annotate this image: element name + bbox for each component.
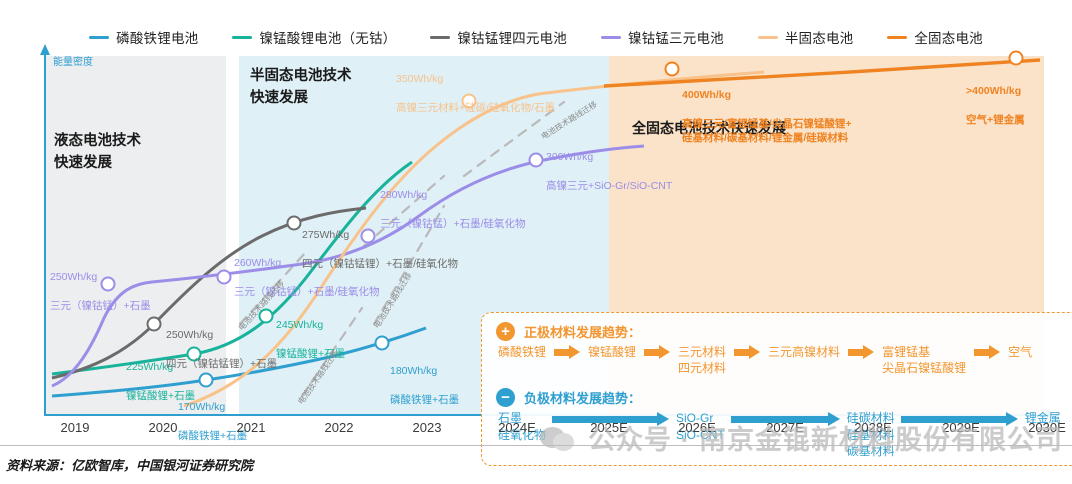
data-label-ncm-250-material: 三元（镍钴锰）+石墨 bbox=[50, 300, 151, 312]
legend-swatch-ncm bbox=[601, 36, 621, 39]
xtick-2026E: 2026E bbox=[678, 420, 716, 435]
data-label-allsolid-400plus-material: 空气+锂金属 bbox=[966, 114, 1025, 126]
cathode-header: + 正极材料发展趋势： bbox=[496, 322, 1072, 341]
data-label-ncm-280-value: 280Wh/kg bbox=[380, 189, 427, 201]
data-label-ncm-300-value: 300Wh/kg bbox=[546, 151, 593, 163]
xtick-2030E: 2030E bbox=[1028, 420, 1066, 435]
xtick-2023: 2023 bbox=[413, 420, 442, 435]
xtick-2024E: 2024E bbox=[498, 420, 536, 435]
legend-item-allsolid[interactable]: 全固态电池 bbox=[887, 27, 983, 47]
chart-root: 磷酸铁锂电池 镍锰酸锂电池（无钴） 镍钴锰锂四元电池 镍钴锰三元电池 半固态电池… bbox=[0, 0, 1072, 484]
data-label-allsolid-400-material: 高镍三元/富锂锰基/尖晶石镍锰酸锂+ 硅基材料/碳基材料/锂金属/硅碳材料 bbox=[682, 118, 851, 144]
data-label-semisolid-350: 350Wh/kg 高镍三元材料+硅碳/硅氧化物/石墨 bbox=[396, 58, 555, 115]
data-label-lfp-180-value: 180Wh/kg bbox=[390, 365, 437, 377]
legend-swatch-semisolid bbox=[758, 36, 778, 39]
legend-label-lnmo: 镍锰酸锂电池（无钴） bbox=[259, 27, 396, 47]
xtick-2021: 2021 bbox=[237, 420, 266, 435]
marker-ncm-260[interactable] bbox=[217, 270, 232, 285]
cathode-chain: 磷酸铁锂 镍锰酸锂 三元材料 四元材料 三元高镍材料 富锂锰基 尖晶石镍锰酸锂 … bbox=[498, 344, 1072, 376]
arrow-right-icon-c4 bbox=[848, 345, 874, 359]
legend-label-semisolid: 半固态电池 bbox=[785, 27, 854, 47]
data-label-lfp-170-value: 170Wh/kg bbox=[178, 401, 225, 413]
data-label-allsolid-400plus-value: >400Wh/kg bbox=[966, 85, 1021, 97]
source-note: 资料来源：亿欧智库，中国银河证券研究院 bbox=[6, 455, 253, 474]
data-label-ncm-260: 260Wh/kg 三元（镍钴锰）+石墨/硅氧化物 bbox=[234, 242, 380, 299]
legend-item-lfp[interactable]: 磷酸铁锂电池 bbox=[89, 27, 198, 47]
legend-swatch-quaternary bbox=[430, 36, 450, 39]
data-label-lnmo-225-material: 镍锰酸锂+石墨 bbox=[126, 390, 195, 402]
data-label-allsolid-400-value: 400Wh/kg bbox=[682, 89, 731, 101]
legend-item-ncm[interactable]: 镍钴锰三元电池 bbox=[601, 27, 724, 47]
arrow-right-icon-c3 bbox=[734, 345, 760, 359]
marker-lfp-180[interactable] bbox=[375, 336, 390, 351]
data-label-ncm-260-value: 260Wh/kg bbox=[234, 257, 281, 269]
cathode-step-3: 三元材料 四元材料 bbox=[678, 344, 726, 376]
marker-allsolid-400plus[interactable] bbox=[1009, 51, 1024, 66]
arrow-right-icon-c2 bbox=[644, 345, 670, 359]
data-label-ncm-300-material: 高镍三元+SiO-Gr/SiO-CNT bbox=[546, 180, 672, 192]
cathode-step-2: 镍锰酸锂 bbox=[588, 344, 636, 360]
plus-icon: + bbox=[496, 322, 515, 341]
minus-icon: − bbox=[496, 388, 515, 407]
data-label-quaternary-250: 250Wh/kg 四元（镍钴锰锂）+石墨 bbox=[166, 314, 277, 371]
marker-allsolid-400[interactable] bbox=[665, 62, 680, 77]
data-label-quaternary-250-value: 250Wh/kg bbox=[166, 329, 213, 341]
cathode-step-1: 磷酸铁锂 bbox=[498, 344, 546, 360]
xtick-2029E: 2029E bbox=[942, 420, 980, 435]
data-label-allsolid-400plus: >400Wh/kg 空气+锂金属 bbox=[966, 70, 1025, 127]
y-axis-arrow-icon bbox=[40, 44, 50, 55]
arrow-right-icon-c1 bbox=[554, 345, 580, 359]
legend-swatch-lnmo bbox=[232, 36, 252, 39]
data-label-ncm-250: 250Wh/kg 三元（镍钴锰）+石墨 bbox=[50, 256, 151, 313]
anode-header: − 负极材料发展趋势： bbox=[496, 388, 1072, 407]
cathode-step-4: 三元高镍材料 bbox=[768, 344, 840, 360]
data-label-ncm-280: 280Wh/kg 三元（镍钴锰）+石墨/硅氧化物 bbox=[380, 174, 526, 231]
legend-swatch-lfp bbox=[89, 36, 109, 39]
data-label-allsolid-400: 400Wh/kg 高镍三元/富锂锰基/尖晶石镍锰酸锂+ 硅基材料/碳基材料/锂金… bbox=[682, 74, 851, 145]
x-axis-tick-labels: 2019 2020 2021 2022 2023 2024E 2025E 202… bbox=[44, 420, 1047, 440]
xtick-2028E: 2028E bbox=[854, 420, 892, 435]
legend-item-lnmo[interactable]: 镍锰酸锂电池（无钴） bbox=[232, 27, 396, 47]
data-label-semisolid-350-material: 高镍三元材料+硅碳/硅氧化物/石墨 bbox=[396, 102, 555, 114]
data-label-lnmo-245-value: 245Wh/kg bbox=[276, 319, 323, 331]
xtick-2025E: 2025E bbox=[590, 420, 628, 435]
legend-label-allsolid: 全固态电池 bbox=[914, 27, 983, 47]
legend-label-ncm: 镍钴锰三元电池 bbox=[628, 27, 724, 47]
plot-area: 液态电池技术 快速发展 半固态电池技术 快速发展 全固态电池技术快速发展 能量密… bbox=[44, 56, 1044, 414]
data-label-quaternary-275-value: 275Wh/kg bbox=[302, 229, 349, 241]
data-label-ncm-260-material: 三元（镍钴锰）+石墨/硅氧化物 bbox=[234, 286, 380, 298]
legend-label-quaternary: 镍钴锰锂四元电池 bbox=[457, 27, 567, 47]
cathode-step-6: 空气 bbox=[1008, 344, 1032, 360]
arrow-right-icon-c5 bbox=[974, 345, 1000, 359]
legend-label-lfp: 磷酸铁锂电池 bbox=[116, 27, 198, 47]
data-label-semisolid-350-value: 350Wh/kg bbox=[396, 73, 443, 85]
anode-title: 负极材料发展趋势： bbox=[524, 388, 641, 407]
data-label-quaternary-250-material: 四元（镍钴锰锂）+石墨 bbox=[166, 358, 277, 370]
chart-legend: 磷酸铁锂电池 镍锰酸锂电池（无钴） 镍钴锰锂四元电池 镍钴锰三元电池 半固态电池… bbox=[0, 26, 1072, 48]
xtick-2020: 2020 bbox=[149, 420, 178, 435]
xtick-2027E: 2027E bbox=[766, 420, 804, 435]
cathode-step-5: 富锂锰基 尖晶石镍锰酸锂 bbox=[882, 344, 966, 376]
cathode-title: 正极材料发展趋势： bbox=[524, 322, 641, 341]
marker-quaternary-250[interactable] bbox=[147, 317, 162, 332]
legend-swatch-allsolid bbox=[887, 36, 907, 39]
marker-quaternary-275[interactable] bbox=[287, 216, 302, 231]
data-label-ncm-280-material: 三元（镍钴锰）+石墨/硅氧化物 bbox=[380, 218, 526, 230]
footer-divider bbox=[0, 445, 1072, 446]
xtick-2019: 2019 bbox=[61, 420, 90, 435]
material-trend-box: + 正极材料发展趋势： 磷酸铁锂 镍锰酸锂 三元材料 四元材料 三元高镍材料 富… bbox=[481, 312, 1072, 466]
legend-item-semisolid[interactable]: 半固态电池 bbox=[758, 27, 854, 47]
data-label-lfp-180: 180Wh/kg 磷酸铁锂+石墨 bbox=[390, 350, 459, 407]
data-label-ncm-300: 300Wh/kg 高镍三元+SiO-Gr/SiO-CNT bbox=[546, 136, 672, 193]
data-label-lfp-180-material: 磷酸铁锂+石墨 bbox=[390, 394, 459, 406]
xtick-2022: 2022 bbox=[325, 420, 354, 435]
legend-item-quaternary[interactable]: 镍钴锰锂四元电池 bbox=[430, 27, 567, 47]
data-label-ncm-250-value: 250Wh/kg bbox=[50, 271, 97, 283]
marker-ncm-300[interactable] bbox=[529, 153, 544, 168]
